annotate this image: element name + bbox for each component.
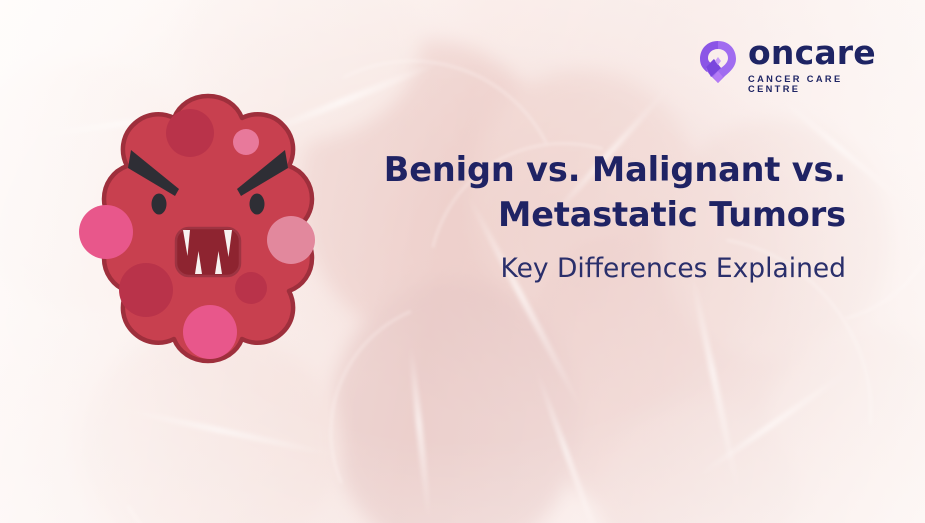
oncare-logo[interactable]: oncare CANCER CARE CENTRE: [697, 36, 887, 94]
mascot-mouth: [176, 228, 240, 276]
banner-root: oncare CANCER CARE CENTRE Benign vs. Mal…: [0, 0, 925, 523]
page-title: Benign vs. Malignant vs. Metastatic Tumo…: [366, 148, 846, 237]
headline-block: Benign vs. Malignant vs. Metastatic Tumo…: [366, 148, 846, 285]
awareness-ribbon-icon: [697, 39, 739, 91]
logo-wordmark: oncare: [748, 36, 887, 69]
page-subtitle: Key Differences Explained: [366, 253, 846, 285]
angry-cancer-cell-mascot: [48, 88, 368, 408]
logo-tagline: CANCER CARE CENTRE: [748, 75, 887, 94]
logo-text-group: oncare CANCER CARE CENTRE: [748, 36, 887, 94]
